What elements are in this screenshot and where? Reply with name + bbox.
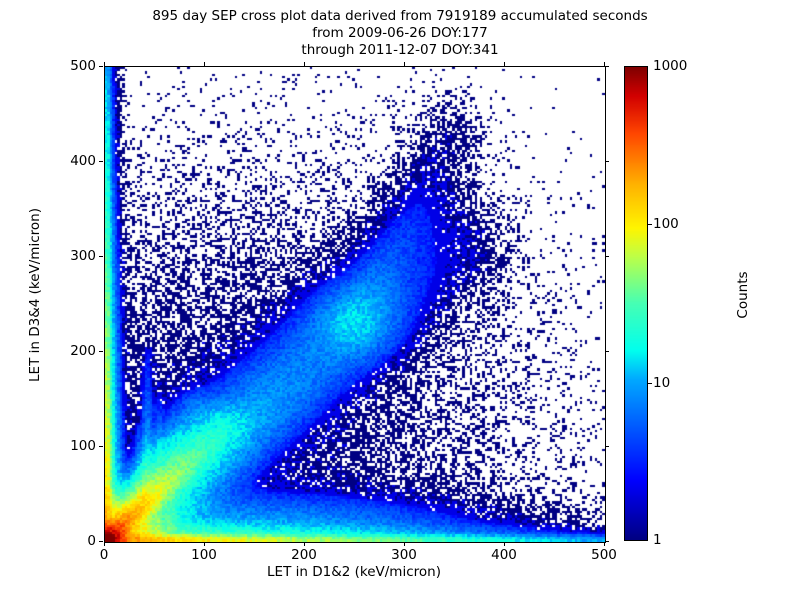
y-tick-mark-right [605, 66, 609, 67]
colorbar-tick-label: 10 [653, 375, 670, 391]
y-tick-mark [99, 161, 103, 162]
x-tick-mark [204, 542, 205, 546]
y-tick-mark-right [605, 541, 609, 542]
y-tick-mark [99, 256, 103, 257]
colorbar-tick-label: 1000 [653, 58, 687, 74]
x-tick-label: 300 [391, 547, 417, 563]
y-tick-mark-right [605, 256, 609, 257]
x-tick-mark [504, 542, 505, 546]
figure-canvas: 895 day SEP cross plot data derived from… [0, 0, 800, 600]
colorbar-label: Counts [735, 195, 751, 395]
y-tick-mark-right [605, 161, 609, 162]
title-line-3: through 2011-12-07 DOY:341 [0, 42, 800, 59]
x-tick-label: 500 [591, 547, 617, 563]
x-tick-mark [604, 542, 605, 546]
y-tick-mark [99, 541, 103, 542]
y-axis-label: LET in D3&4 (keV/micron) [27, 195, 43, 395]
x-axis-label: LET in D1&2 (keV/micron) [104, 564, 604, 580]
y-tick-label: 500 [44, 58, 96, 74]
x-tick-label: 200 [291, 547, 317, 563]
y-tick-mark [99, 66, 103, 67]
colorbar [624, 66, 648, 541]
y-tick-label: 100 [44, 438, 96, 454]
x-tick-mark-top [504, 62, 505, 66]
y-tick-label: 400 [44, 153, 96, 169]
x-tick-mark [304, 542, 305, 546]
x-tick-mark-top [304, 62, 305, 66]
y-tick-label: 300 [44, 248, 96, 264]
plot-axes [104, 66, 606, 543]
colorbar-gradient [624, 66, 648, 541]
x-tick-mark [104, 542, 105, 546]
y-tick-mark [99, 446, 103, 447]
x-tick-mark-top [204, 62, 205, 66]
x-tick-label: 100 [191, 547, 217, 563]
x-tick-mark-top [104, 62, 105, 66]
colorbar-tick-mark [648, 383, 652, 384]
title-line-1: 895 day SEP cross plot data derived from… [0, 8, 800, 25]
x-tick-label: 0 [100, 547, 109, 563]
x-tick-label: 400 [491, 547, 517, 563]
y-tick-label: 200 [44, 343, 96, 359]
y-tick-mark [99, 351, 103, 352]
colorbar-tick-mark [648, 224, 652, 225]
colorbar-tick-label: 1 [653, 532, 662, 548]
colorbar-tick-label: 100 [653, 216, 679, 232]
title-line-2: from 2009-06-26 DOY:177 [0, 25, 800, 42]
x-tick-mark [404, 542, 405, 546]
y-tick-label: 0 [44, 533, 96, 549]
chart-title: 895 day SEP cross plot data derived from… [0, 8, 800, 59]
y-tick-mark-right [605, 351, 609, 352]
x-tick-mark-top [404, 62, 405, 66]
density-heatmap [105, 67, 605, 542]
y-tick-mark-right [605, 446, 609, 447]
